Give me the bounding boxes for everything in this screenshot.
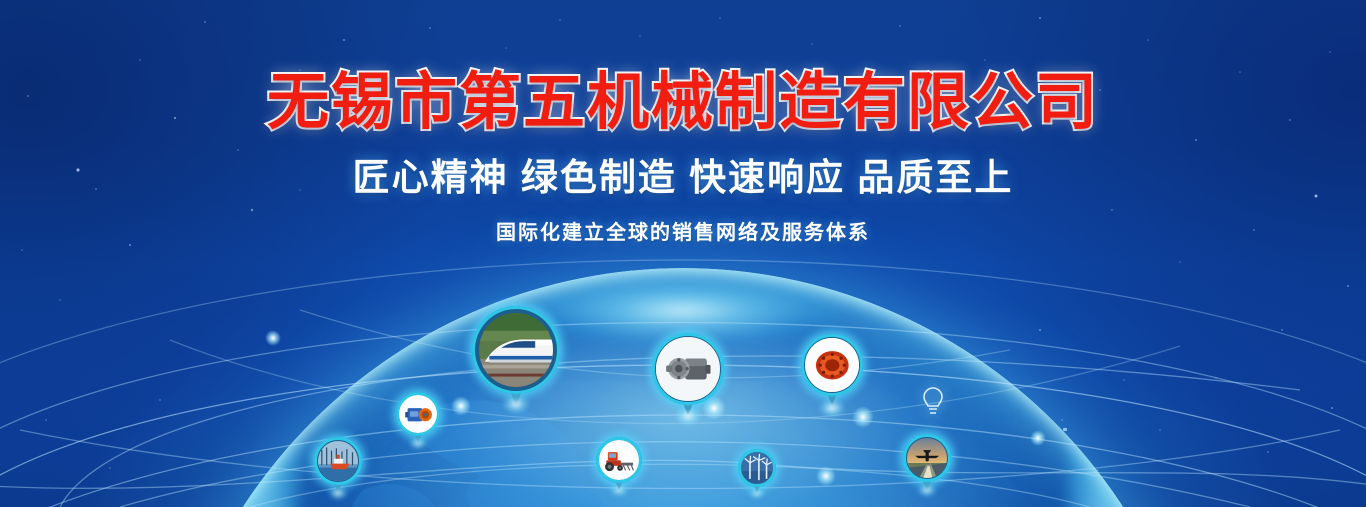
pin-ring (903, 434, 951, 482)
pin-tip-glow (496, 390, 536, 418)
pin-tip-glow (745, 485, 769, 501)
map-pin-blue-motor[interactable] (396, 392, 440, 436)
pin-ring (396, 392, 440, 436)
page-title: 无锡市第五机械制造有限公司 (0, 0, 1366, 135)
pin-tip-glow (668, 402, 708, 430)
pin-tip-glow (324, 483, 352, 503)
company-hero-banner: 无锡市第五机械制造有限公司 匠心精神 绿色制造 快速响应 品质至上 国际化建立全… (0, 0, 1366, 507)
map-pin-harbor-port[interactable] (314, 437, 362, 485)
pin-ring (652, 333, 724, 405)
pin-ring (314, 437, 362, 485)
tagline: 国际化建立全球的销售网络及服务体系 (0, 216, 1366, 245)
pin-ring (596, 437, 642, 483)
map-pin-airplane[interactable] (903, 434, 951, 482)
lightbulb-icon (918, 384, 948, 420)
pin-tip-glow (913, 480, 941, 500)
map-pin-red-flange[interactable] (801, 334, 863, 396)
pin-tip-glow (606, 481, 632, 499)
map-pin-high-speed-train[interactable] (472, 306, 560, 394)
banner-text-block: 无锡市第五机械制造有限公司 匠心精神 绿色制造 快速响应 品质至上 国际化建立全… (0, 0, 1366, 245)
pin-tip-glow (405, 434, 431, 452)
pin-tip-glow (812, 394, 852, 422)
pin-ring (801, 334, 863, 396)
map-pin-wind-turbine[interactable] (738, 449, 776, 487)
pin-ring (472, 306, 560, 394)
pin-ring (738, 449, 776, 487)
map-pin-tractor[interactable] (596, 437, 642, 483)
slogan: 匠心精神 绿色制造 快速响应 品质至上 (0, 147, 1366, 201)
map-pin-gearbox[interactable] (652, 333, 724, 405)
